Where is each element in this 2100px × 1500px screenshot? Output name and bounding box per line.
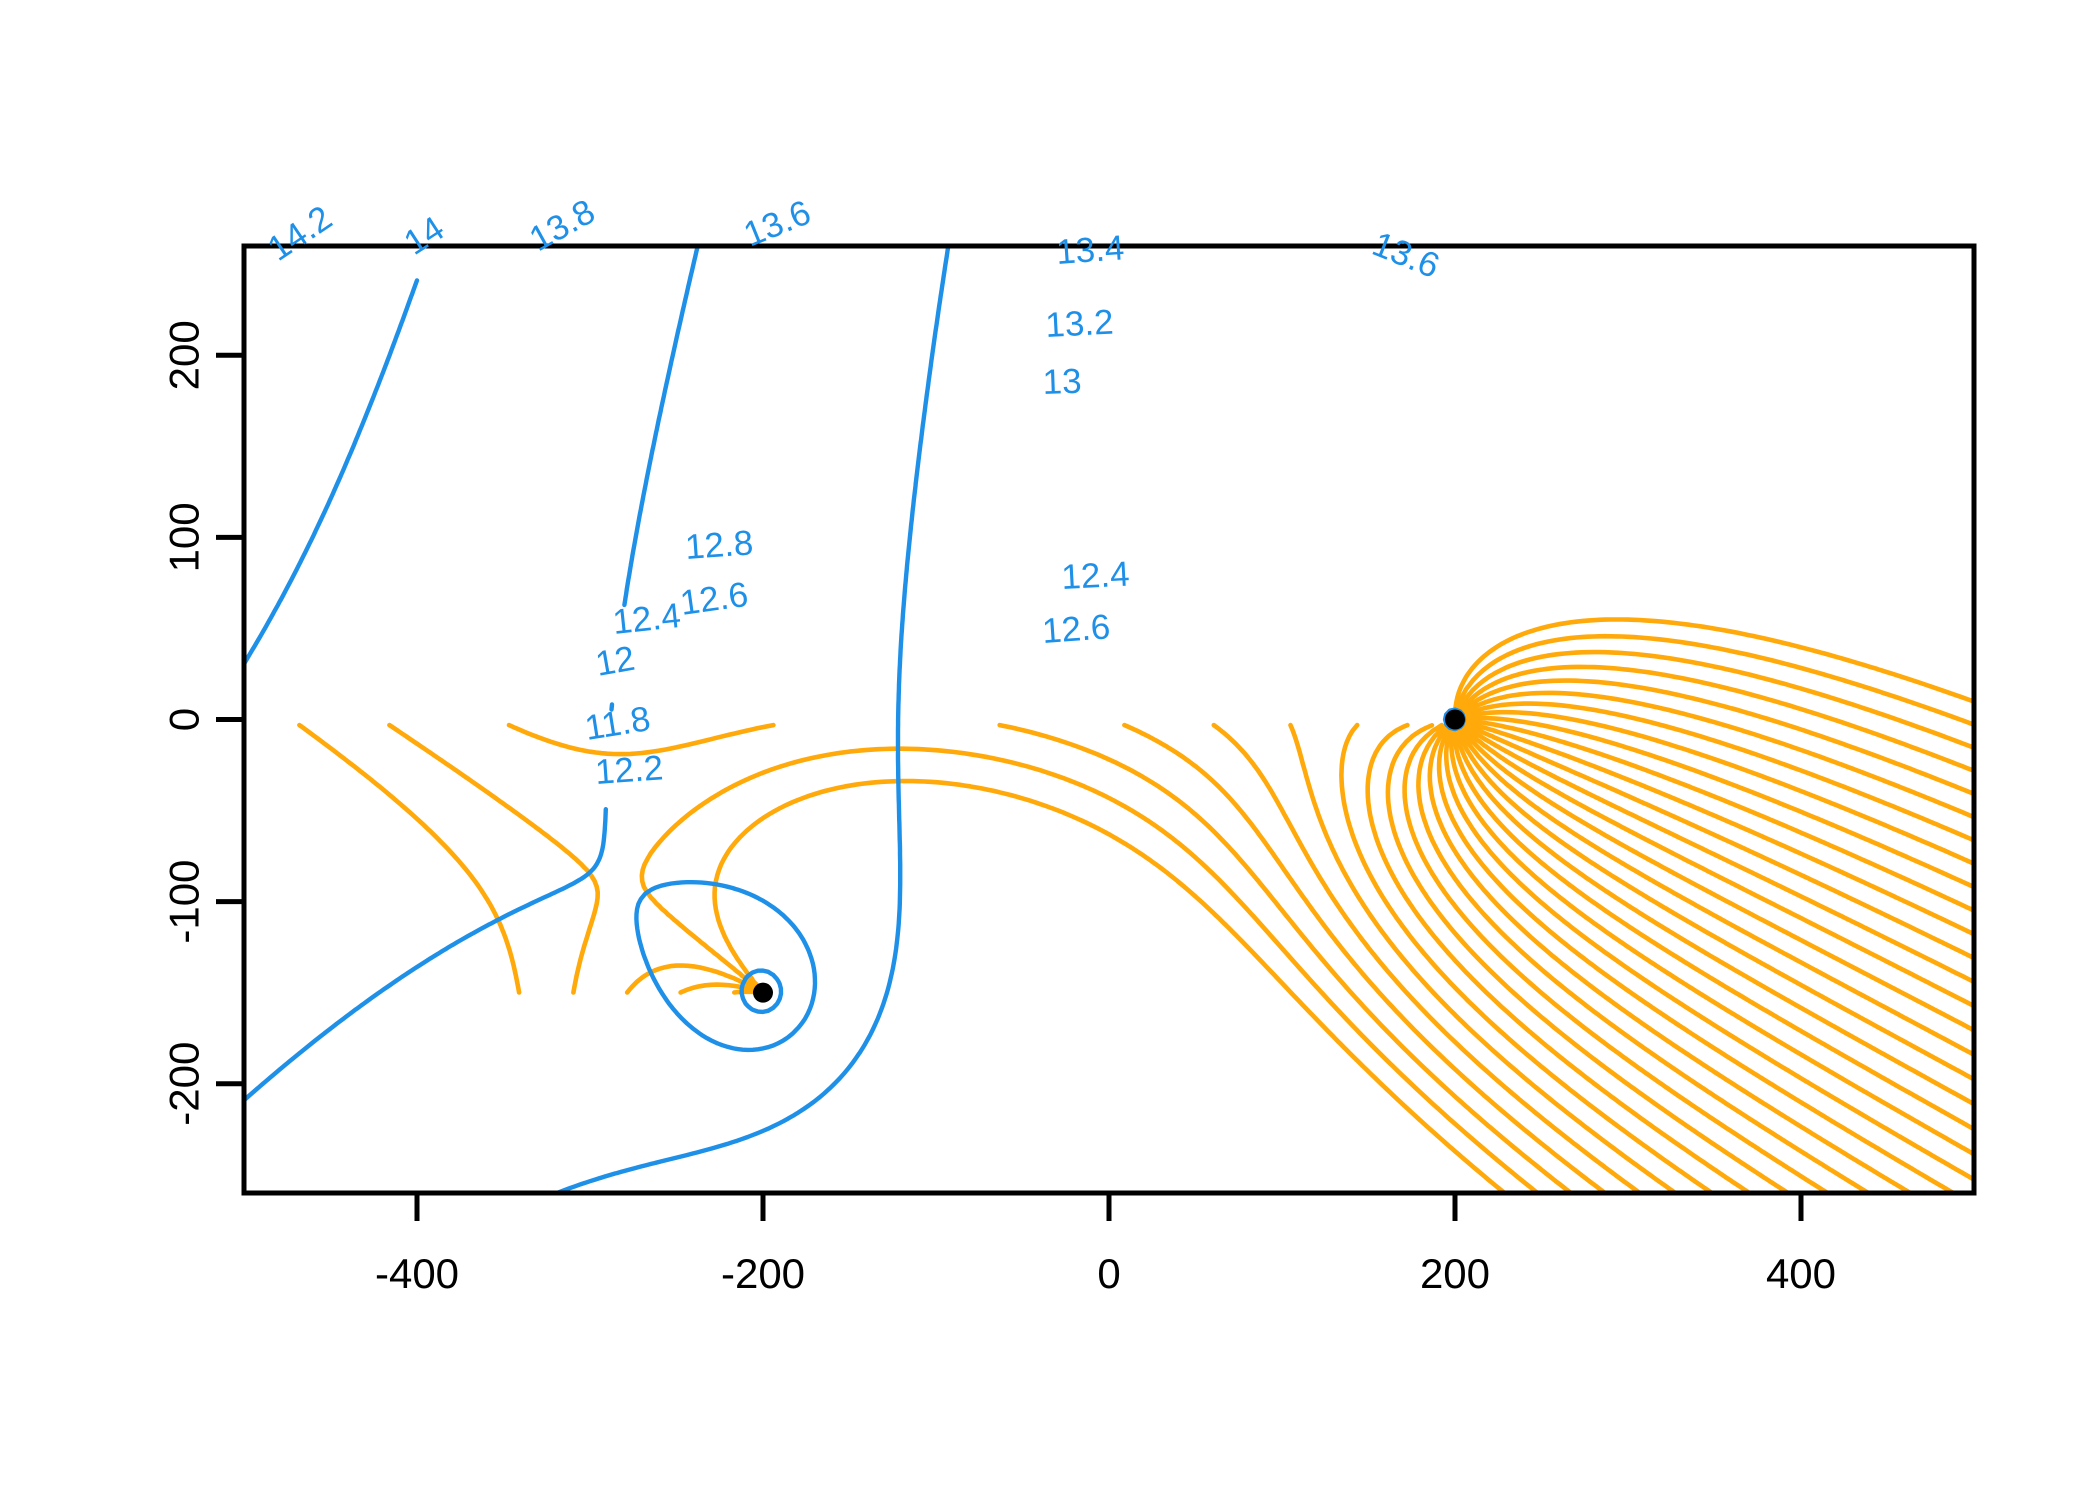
equipotential-contour xyxy=(244,280,417,663)
equipotential-contour xyxy=(244,809,606,1100)
contour-level-label: 14 xyxy=(397,209,451,263)
plot-canvas: -400-2000200400-200-1000100200 14.21413.… xyxy=(0,0,2100,1500)
equipotential-layer xyxy=(244,246,1464,1193)
contour-level-label: 12.6 xyxy=(1041,607,1112,651)
contour-level-label: 12.4 xyxy=(1060,554,1130,597)
streamline xyxy=(715,781,1505,1193)
y-tick-label: 200 xyxy=(161,320,208,390)
axis-ticks xyxy=(216,355,1801,1221)
well-marker xyxy=(753,983,773,1003)
y-tick-label: 100 xyxy=(161,502,208,572)
y-tick-label: -100 xyxy=(161,860,208,944)
y-tick-label: -200 xyxy=(161,1042,208,1126)
contour-level-label: 14.2 xyxy=(261,198,339,268)
x-tick-label: 0 xyxy=(1097,1250,1120,1297)
x-tick-label: 200 xyxy=(1420,1250,1490,1297)
streamline xyxy=(1000,725,1571,1193)
x-tick-label: -200 xyxy=(721,1250,805,1297)
well-marker-layer xyxy=(753,710,1465,1003)
contour-level-label: 13.2 xyxy=(1044,302,1114,345)
contour-level-label: 13.4 xyxy=(1055,228,1126,272)
contour-level-label: 12.2 xyxy=(594,748,665,792)
y-tick-label: 0 xyxy=(161,708,208,731)
streamline xyxy=(389,725,597,992)
contour-level-label: 13 xyxy=(1042,362,1082,402)
contour-level-label: 12 xyxy=(593,639,638,684)
contour-level-label: 11.8 xyxy=(582,699,653,748)
x-tick-label: -400 xyxy=(375,1250,459,1297)
contour-plot-svg: -400-2000200400-200-1000100200 14.21413.… xyxy=(0,0,2100,1500)
contour-level-label: 13.6 xyxy=(1367,224,1445,286)
x-tick-label: 400 xyxy=(1766,1250,1836,1297)
contour-level-label: 12.8 xyxy=(684,523,755,567)
contour-level-label: 12.4 xyxy=(611,596,683,642)
well-marker xyxy=(1445,710,1465,730)
streamline-layer xyxy=(299,620,1974,1194)
contour-labels: 14.21413.813.613.413.613.21312.812.612.4… xyxy=(261,192,1445,792)
contour-level-label: 13.8 xyxy=(523,192,601,259)
streamline xyxy=(299,725,519,992)
contour-level-label: 12.6 xyxy=(678,575,751,623)
